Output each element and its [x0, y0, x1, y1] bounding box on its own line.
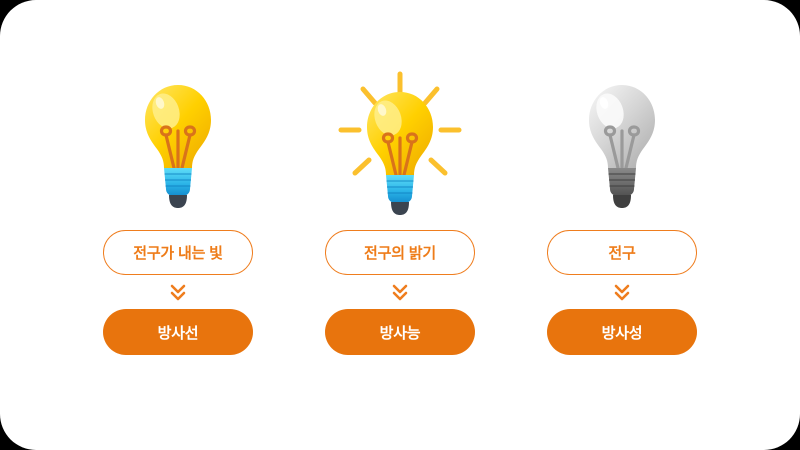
- lightbulb-lit-icon: [118, 73, 238, 213]
- analogy-pill-2[interactable]: 전구의 밝기: [325, 230, 475, 275]
- double-chevron-down-icon: [168, 281, 188, 303]
- bulb-contact-tip: [391, 202, 409, 215]
- term-label-2: 방사능: [380, 322, 421, 343]
- bulb-contact-tip: [169, 195, 187, 208]
- analogy-label-3: 전구: [608, 242, 635, 263]
- lightbulb-shining-icon: [325, 68, 475, 218]
- analogy-label-1: 전구가 내는 빛: [133, 242, 223, 263]
- column-radioactivity: 전구의 밝기 방사능: [289, 0, 511, 355]
- double-chevron-down-icon: [612, 281, 632, 303]
- ray-lower-right: [431, 160, 445, 173]
- infographic-card: 전구가 내는 빛 방사선: [0, 0, 800, 450]
- column-radiation-ray: 전구가 내는 빛 방사선: [67, 0, 289, 355]
- bulb-base: [164, 168, 192, 197]
- arrow-1: [168, 275, 188, 309]
- column-radioactive-material: 전구 방사성: [511, 0, 733, 355]
- term-label-3: 방사성: [602, 322, 643, 343]
- double-chevron-down-icon: [390, 281, 410, 303]
- lightbulb-off-icon: [562, 73, 682, 213]
- ray-upper-right: [425, 89, 437, 103]
- term-pill-3[interactable]: 방사성: [547, 309, 697, 355]
- analogy-label-2: 전구의 밝기: [364, 242, 436, 263]
- ray-lower-left: [355, 160, 369, 173]
- term-pill-2[interactable]: 방사능: [325, 309, 475, 355]
- term-pill-1[interactable]: 방사선: [103, 309, 253, 355]
- term-label-1: 방사선: [158, 322, 199, 343]
- bulb-slot-3: [562, 55, 682, 230]
- arrow-3: [612, 275, 632, 309]
- arrow-2: [390, 275, 410, 309]
- ray-upper-left: [363, 89, 375, 103]
- analogy-pill-3[interactable]: 전구: [547, 230, 697, 275]
- bulb-base: [386, 175, 414, 204]
- bulb-slot-2: [325, 55, 475, 230]
- bulb-base: [608, 168, 636, 197]
- bulb-slot-1: [118, 55, 238, 230]
- analogy-pill-1[interactable]: 전구가 내는 빛: [103, 230, 253, 275]
- columns-container: 전구가 내는 빛 방사선: [0, 0, 800, 450]
- bulb-contact-tip: [613, 195, 631, 208]
